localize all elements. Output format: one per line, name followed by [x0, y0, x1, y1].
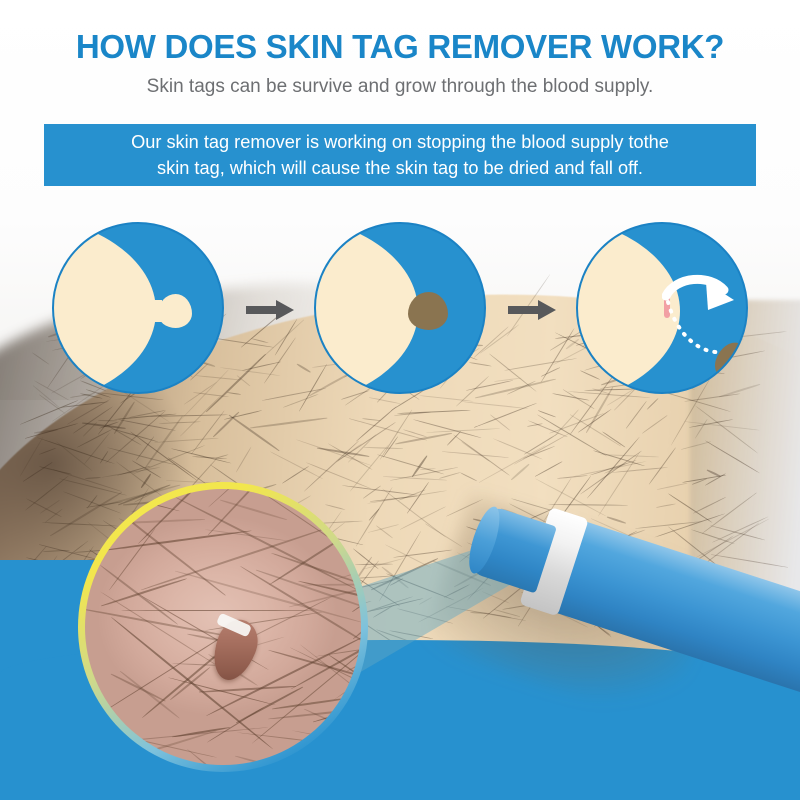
banner-line-1: Our skin tag remover is working on stopp… [131, 132, 669, 152]
info-banner-text: Our skin tag remover is working on stopp… [131, 129, 669, 181]
step-1-diagram [52, 222, 224, 394]
page-subtitle: Skin tags can be survive and grow throug… [0, 76, 800, 98]
info-banner: Our skin tag remover is working on stopp… [44, 124, 756, 186]
magnifier-circle [78, 482, 368, 772]
step-arrow-1-icon [246, 300, 294, 320]
magnifier-photo [85, 489, 361, 765]
step-3-diagram [576, 222, 748, 394]
infographic-poster: HOW DOES SKIN TAG REMOVER WORK? Skin tag… [0, 0, 800, 800]
step-2-diagram [314, 222, 486, 394]
step-arrow-2-icon [508, 300, 556, 320]
banner-line-2: skin tag, which will cause the skin tag … [157, 158, 643, 178]
page-title: HOW DOES SKIN TAG REMOVER WORK? [0, 28, 800, 66]
skin-tag-bulb [158, 294, 192, 328]
skin-layer-cream [52, 222, 156, 394]
dried-skin-tag-bulb [408, 292, 448, 330]
skin-layer-cream [314, 222, 418, 394]
